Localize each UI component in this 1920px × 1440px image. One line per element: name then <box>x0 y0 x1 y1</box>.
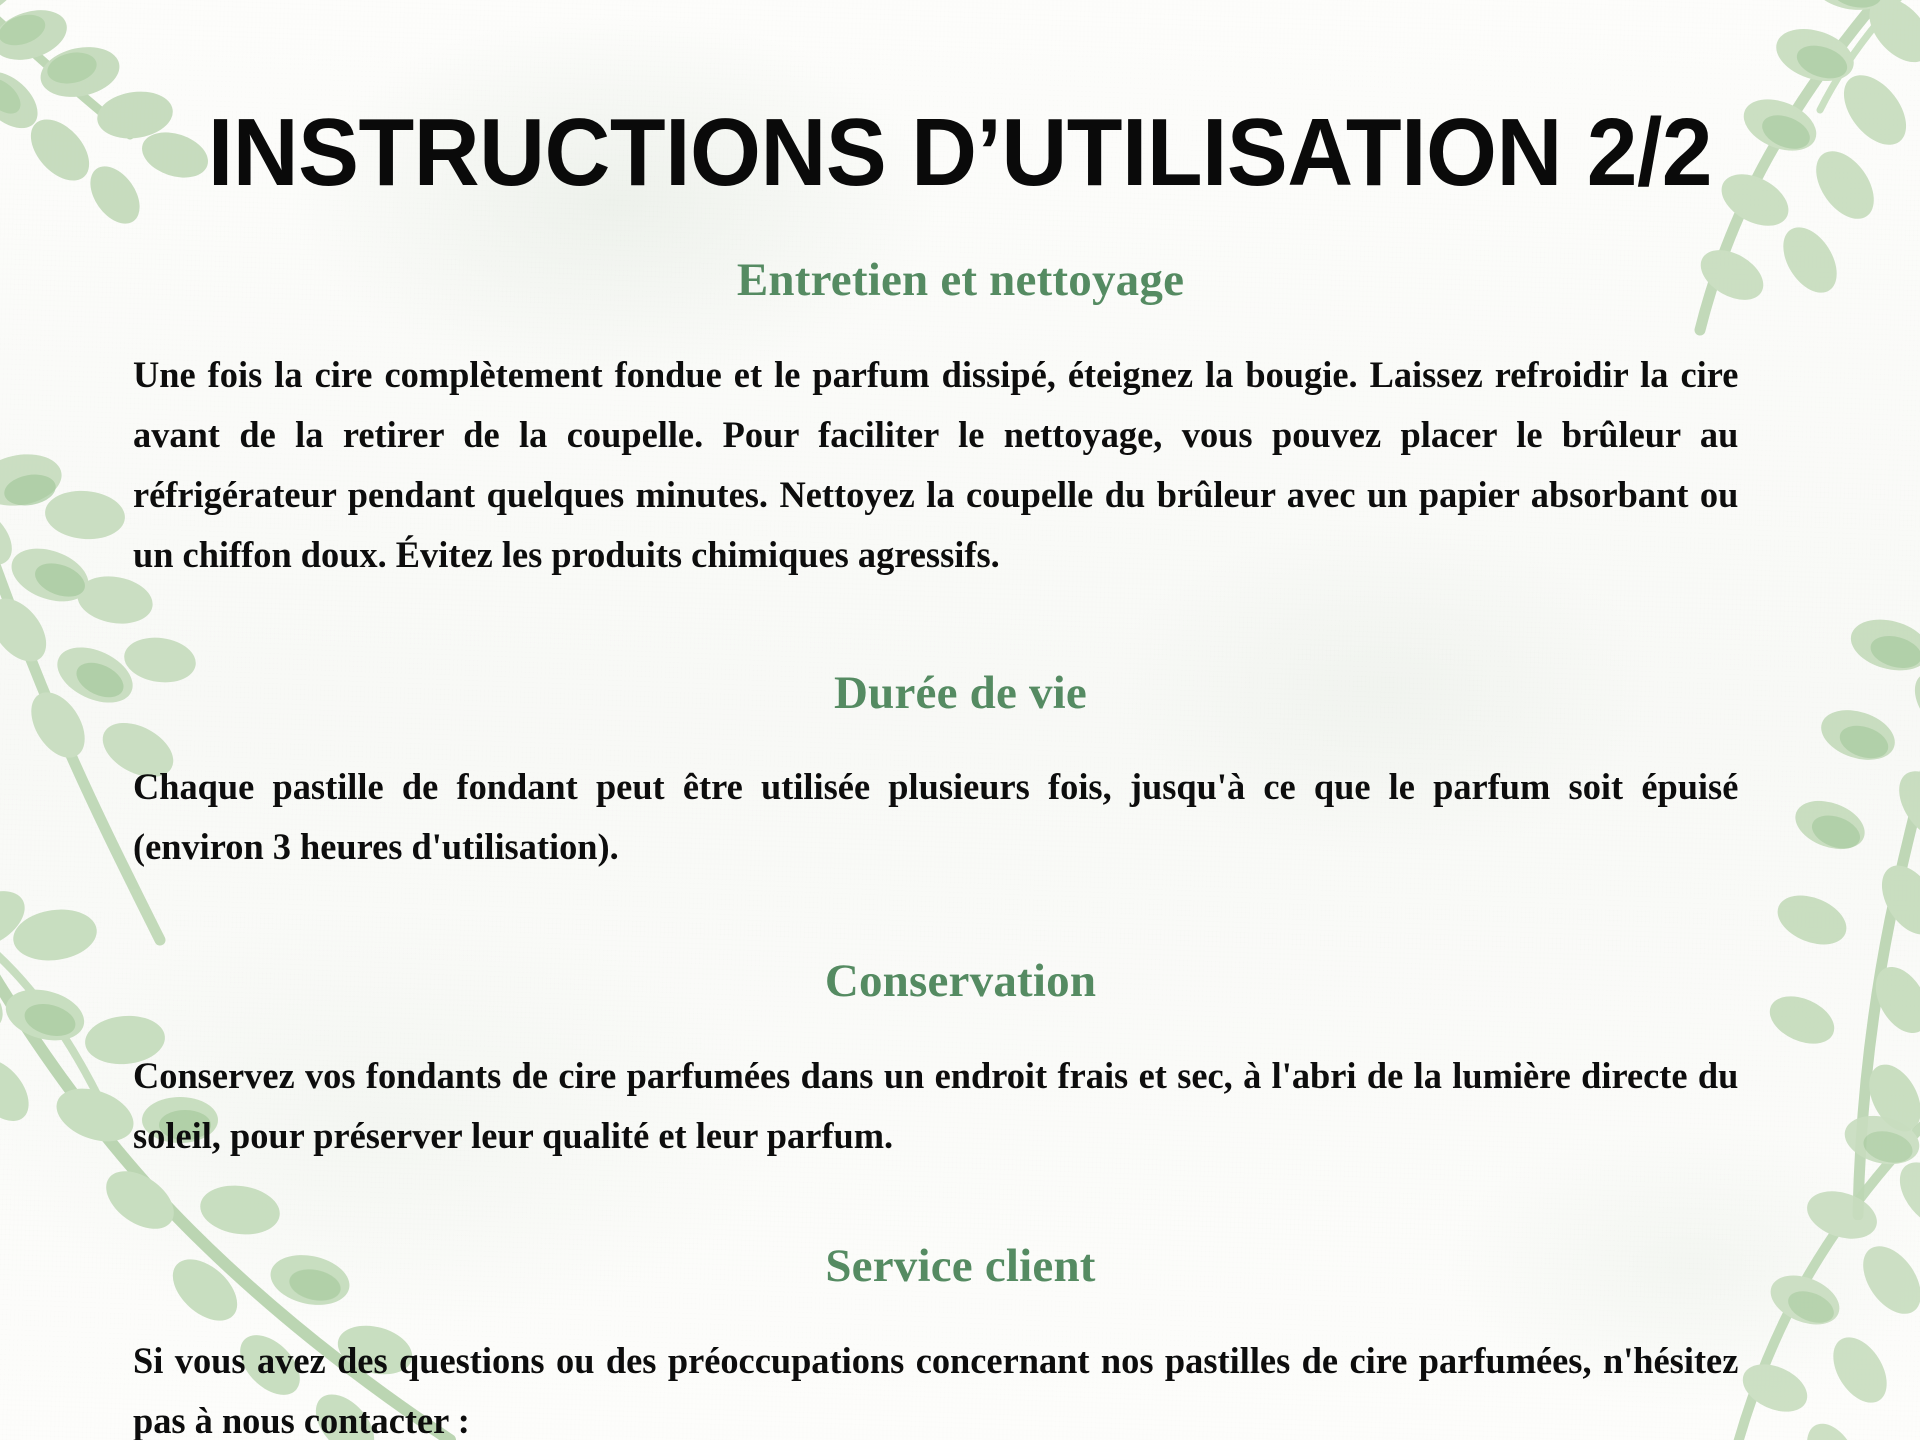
instructions-page: INSTRUCTIONS D’UTILISATION 2/2 Entretien… <box>0 0 1920 1440</box>
section-heading: Conservation <box>133 956 1788 1008</box>
section-heading: Entretien et nettoyage <box>133 255 1788 307</box>
sections-container: Entretien et nettoyage Une fois la cire … <box>133 216 1788 1440</box>
section-body: Chaque pastille de fondant peut être uti… <box>133 758 1738 878</box>
document-content: INSTRUCTIONS D’UTILISATION 2/2 Entretien… <box>0 0 1920 1440</box>
section-entretien-et-nettoyage: Entretien et nettoyage Une fois la cire … <box>133 255 1788 586</box>
section-service-client: Service client Si vous avez des question… <box>133 1241 1788 1440</box>
page-title: INSTRUCTIONS D’UTILISATION 2/2 <box>48 98 1872 208</box>
section-heading: Durée de vie <box>133 668 1788 720</box>
section-heading: Service client <box>133 1241 1788 1293</box>
section-duree-de-vie: Durée de vie Chaque pastille de fondant … <box>133 668 1788 879</box>
section-body: Une fois la cire complètement fondue et … <box>133 346 1738 586</box>
section-body: Conservez vos fondants de cire parfumées… <box>133 1047 1738 1167</box>
section-conservation: Conservation Conservez vos fondants de c… <box>133 956 1788 1167</box>
section-body: Si vous avez des questions ou des préocc… <box>133 1332 1738 1440</box>
